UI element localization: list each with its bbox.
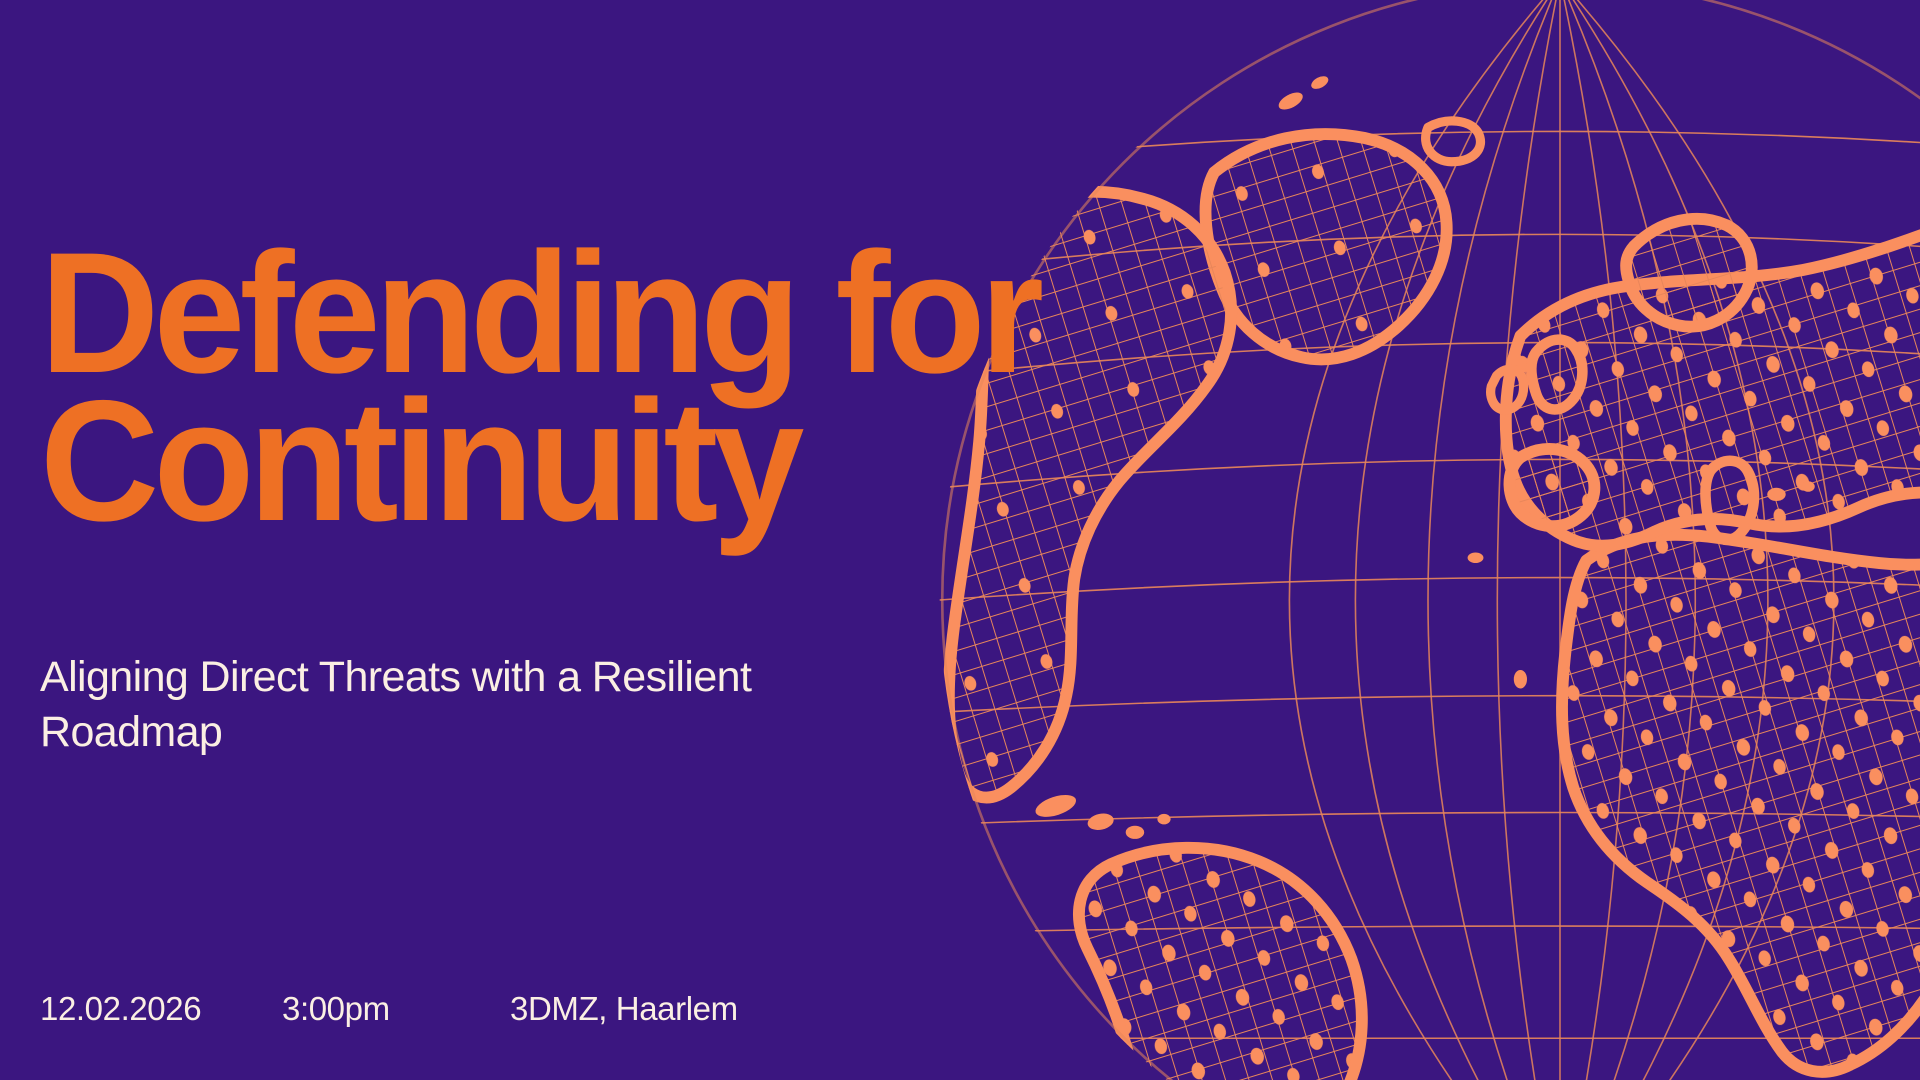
event-details: 12.02.2026 3:00pm 3DMZ, Haarlem — [40, 990, 738, 1028]
landmass-africa — [1562, 535, 1920, 1072]
landmass-italy — [1705, 461, 1753, 540]
island-specks — [1276, 74, 1920, 689]
landmass-scandinavia — [1626, 219, 1752, 327]
landmass-iceland — [1426, 121, 1481, 162]
landmass-iberia — [1509, 449, 1594, 526]
event-date: 12.02.2026 — [40, 990, 282, 1028]
event-poster: Defending for Continuity Aligning Direct… — [0, 0, 1920, 1080]
landmass-south-america — [1079, 848, 1362, 1080]
globe-meridians — [1289, 0, 1834, 1080]
landmass-british-isles — [1491, 340, 1583, 410]
event-time: 3:00pm — [282, 990, 510, 1028]
landmass-greenland — [1206, 134, 1447, 359]
subtitle: Aligning Direct Threats with a Resilient… — [40, 650, 860, 760]
landmass-eurasia — [1506, 188, 1920, 546]
event-venue: 3DMZ, Haarlem — [510, 990, 738, 1028]
text-content: Defending for Continuity Aligning Direct… — [0, 0, 1100, 1080]
page-title: Defending for Continuity — [40, 240, 1058, 536]
